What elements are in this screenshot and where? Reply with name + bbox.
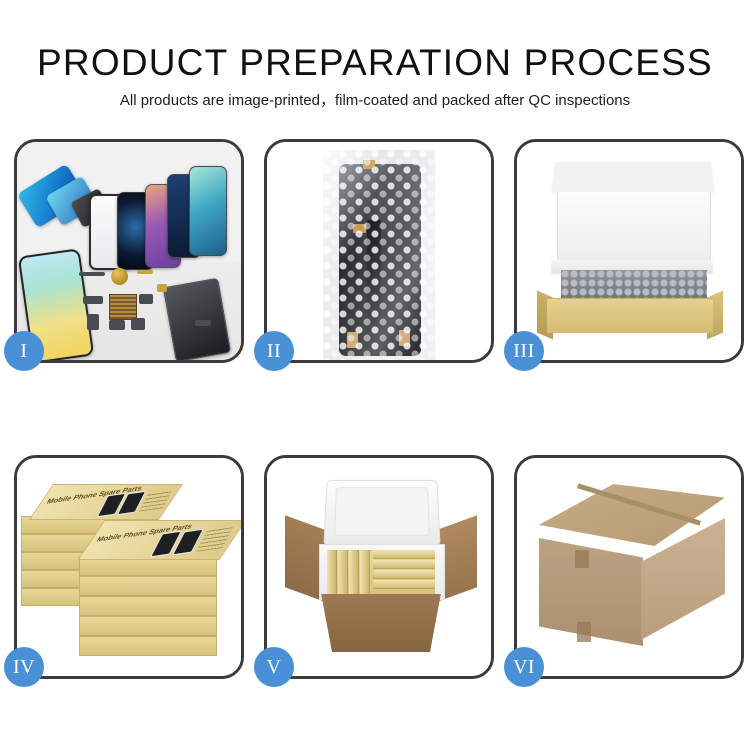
phone-screen-teal [189,166,227,256]
step-card-6[interactable]: VI [514,455,744,679]
step-image-4: Mobile Phone Spare Parts Mobile Phone Sp… [17,458,241,676]
packing-tape-upper [575,550,589,568]
button-bracket [109,320,125,330]
sim-tray [87,314,99,330]
tweezers-tool [195,320,211,326]
plastic-sheen [323,150,435,360]
packing-tape-lower [577,622,591,642]
step-card-5[interactable]: V [264,455,494,679]
box-layer [79,616,217,636]
box-slab [349,550,359,594]
screw-set [157,284,167,292]
box-slab [373,550,435,559]
step-badge-1: I [4,331,44,371]
carton-front-panel [313,594,449,652]
box-layer [79,576,217,596]
packed-boxes [327,550,435,594]
gold-connector [137,270,153,274]
box-slab [373,580,435,589]
box-slab [373,570,435,579]
step-card-3[interactable]: III [514,139,744,363]
box-layer [79,636,217,656]
box-slab [360,550,370,594]
steps-grid: I II III [0,0,750,750]
step-badge-6: VI [504,647,544,687]
speaker-component [111,268,128,285]
box-slab [373,560,435,569]
step-card-4[interactable]: Mobile Phone Spare Parts Mobile Phone Sp… [14,455,244,679]
box-slab [327,550,337,594]
step-badge-4: IV [4,647,44,687]
step-badge-2: II [254,331,294,371]
step-image-2 [267,142,491,360]
step-card-1[interactable]: I [14,139,244,363]
step-badge-5: V [254,647,294,687]
foam-cooler-lid-inner [334,487,430,536]
box-slab [338,550,348,594]
box-front-panel [547,298,713,333]
step-badge-3: III [504,331,544,371]
step-image-3 [517,142,741,360]
step-image-5 [267,458,491,676]
logic-board [109,294,137,320]
box-layer [79,596,217,616]
step-image-1 [17,142,241,360]
flex-cable [79,272,105,276]
step-card-2[interactable]: II [264,139,494,363]
camera-module [139,294,153,304]
box-lid-face [557,192,711,260]
step-image-6 [517,458,741,676]
carton-front-panel [539,538,643,646]
vibrator-motor [83,296,103,304]
earpiece-mesh [131,318,145,330]
box-lid-back [551,162,715,194]
